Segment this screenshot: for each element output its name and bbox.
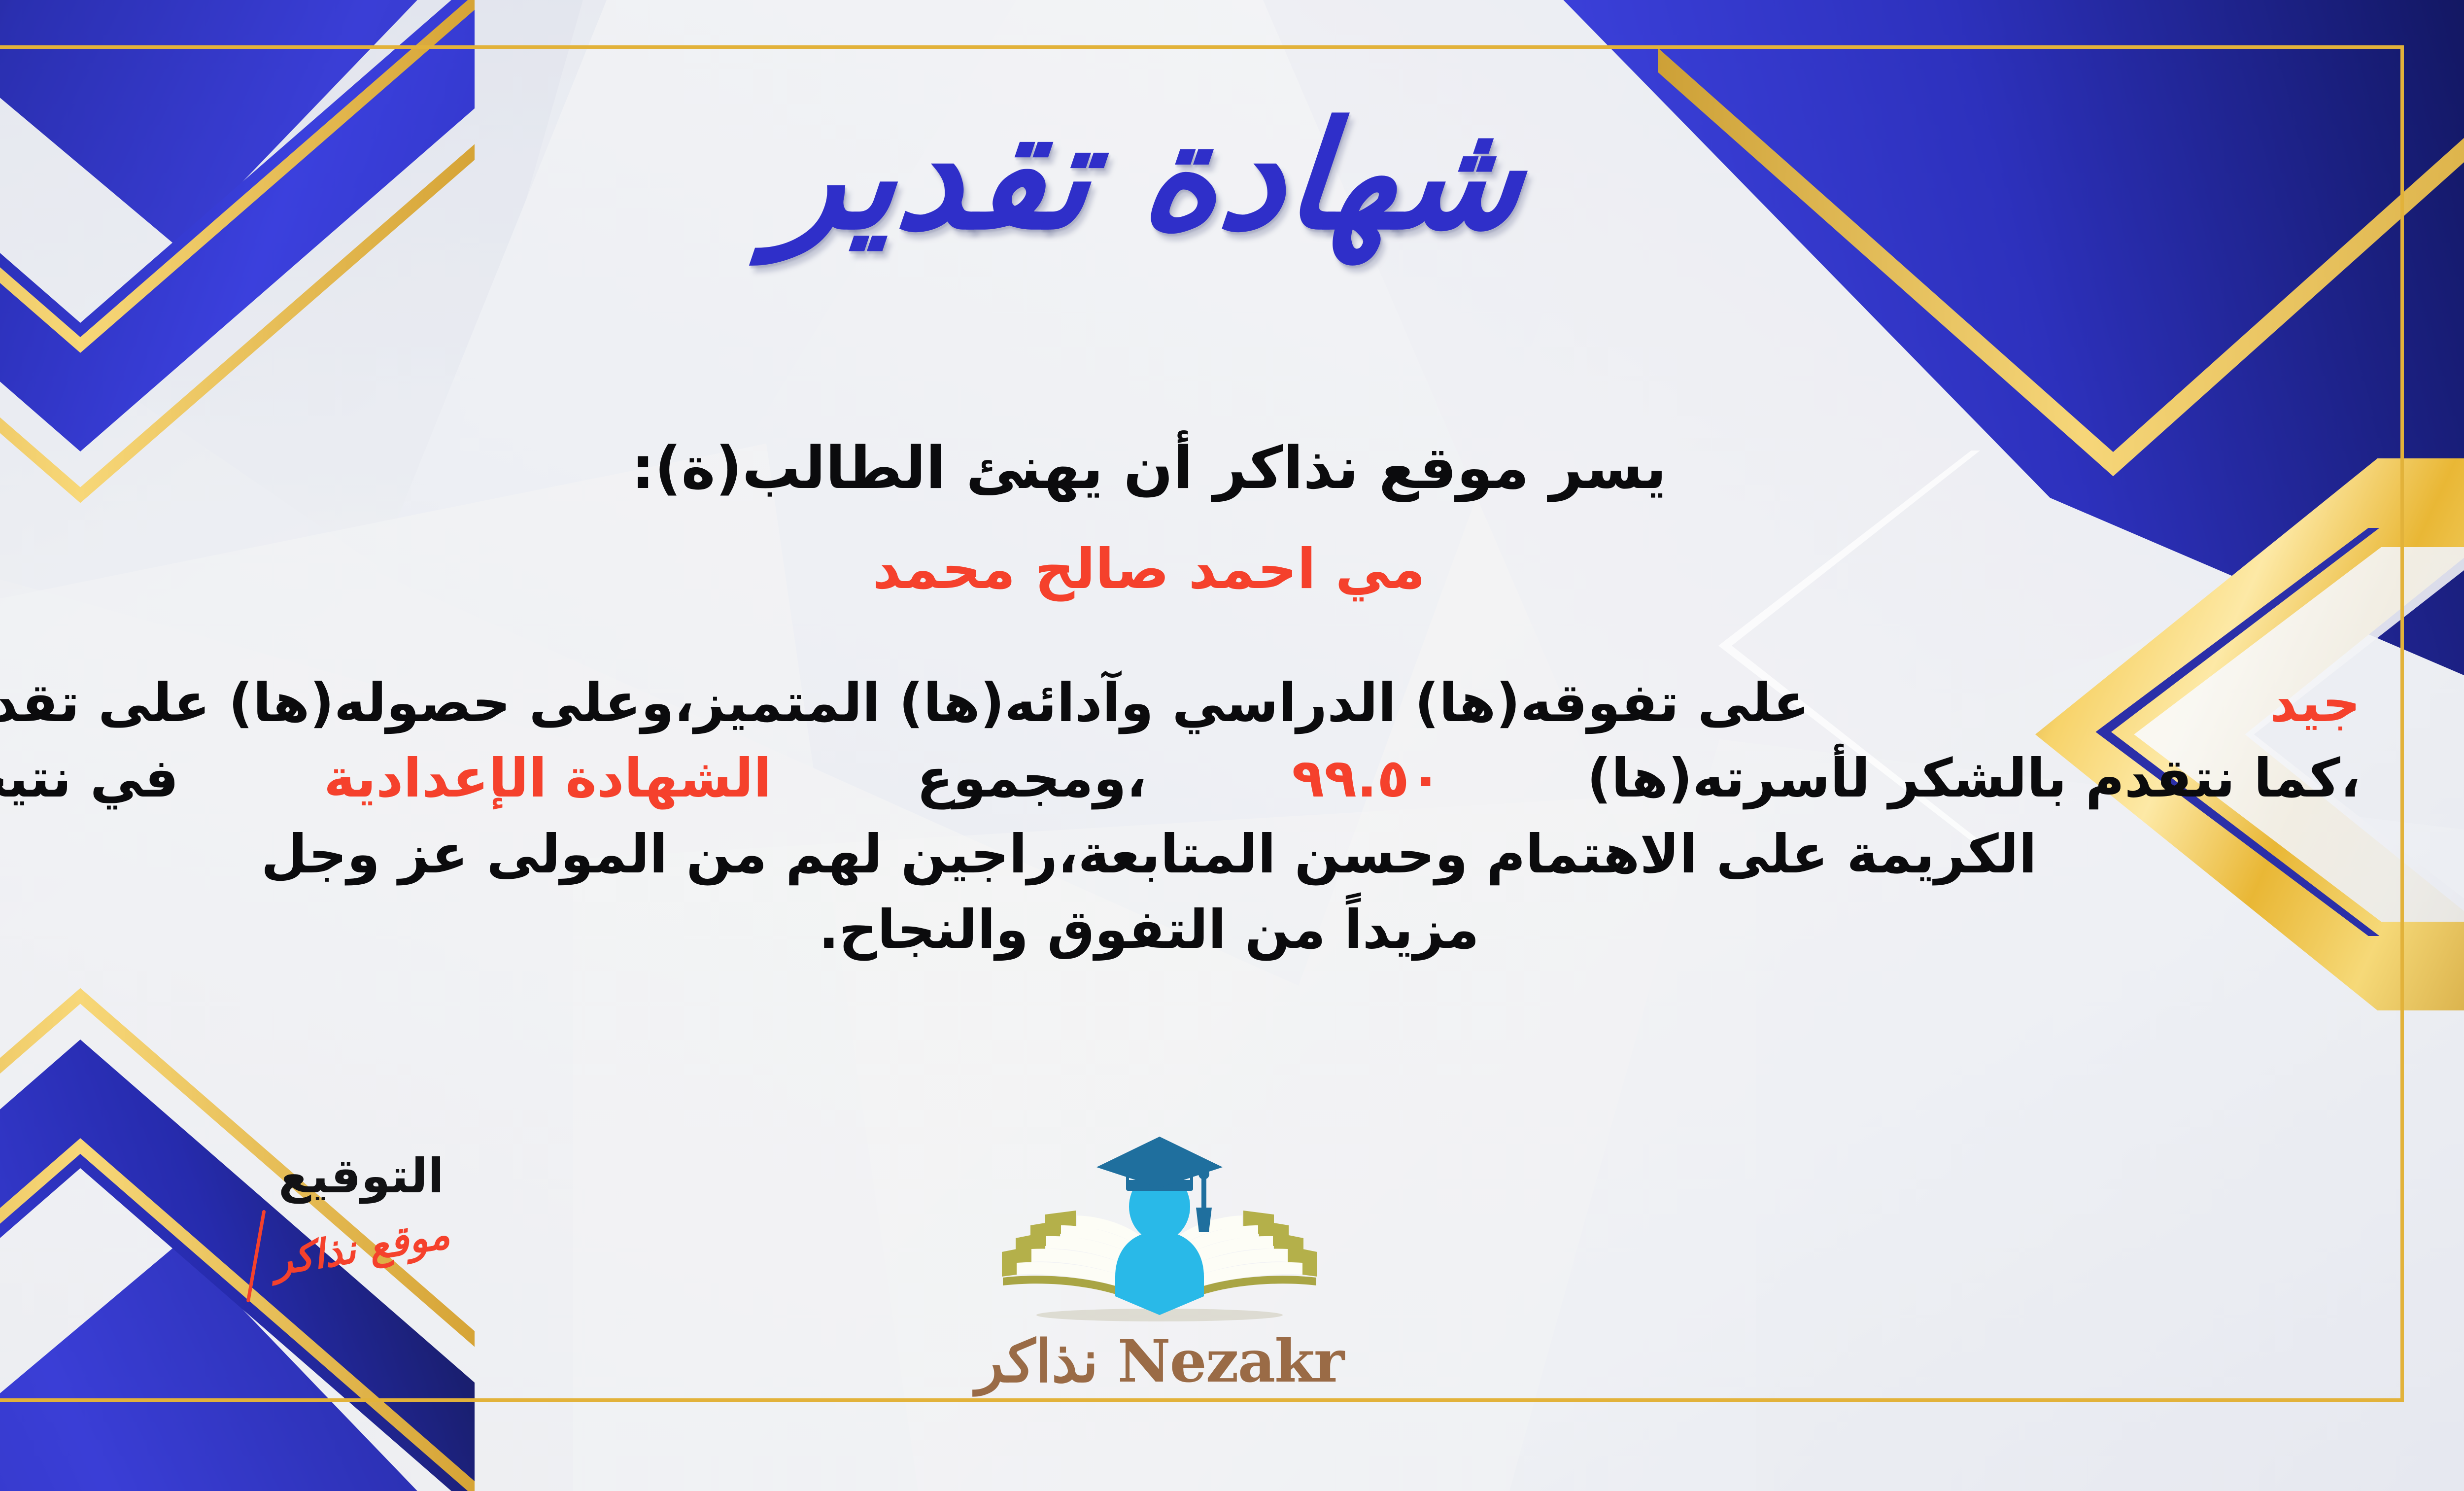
signature-block: التوقيع موقع نذاكر	[208, 1148, 514, 1271]
body-paragraph: جيد على تفوقه(ها) الدراسي وآدائه(ها) الم…	[0, 665, 2390, 968]
graduate-book-icon	[972, 1129, 1347, 1336]
total-score-value: ٩٩.٥٠	[1292, 741, 1442, 816]
body-line-2-suffix: ،كما نتقدم بالشكر لأسرته(ها)	[1587, 741, 2361, 816]
body-line-3: الكريمة على الاهتمام وحسن المتابعة،راجين…	[0, 817, 2390, 892]
certificate-title: شهادة تقدير	[0, 84, 2464, 269]
exam-name-value: الشهادة الإعدادية	[324, 741, 772, 816]
grade-value: جيد	[2270, 665, 2361, 741]
brand-logo: Nezakr نذاكر	[972, 1129, 1347, 1424]
student-name: مي احمد صالح محمد	[0, 537, 2464, 601]
signature-label: التوقيع	[208, 1148, 514, 1204]
body-line-2-mid: ،ومجموع	[917, 741, 1147, 816]
body-line-1: جيد على تفوقه(ها) الدراسي وآدائه(ها) الم…	[0, 665, 2390, 741]
certificate-page: شهادة تقدير يسر موقع نذاكر أن يهنئ الطال…	[0, 0, 2464, 1491]
body-line-2-prefix: في نتيجة	[0, 741, 179, 816]
certificate-content: شهادة تقدير يسر موقع نذاكر أن يهنئ الطال…	[0, 0, 2464, 1491]
body-line-4: مزيداً من التفوق والنجاح.	[0, 892, 2390, 968]
signature-mark: موقع نذاكر	[270, 1211, 453, 1284]
brand-name: Nezakr نذاكر	[972, 1327, 1347, 1395]
body-line-1-text: على تفوقه(ها) الدراسي وآدائه(ها) المتميز…	[0, 665, 1810, 741]
greeting-line: يسر موقع نذاكر أن يهنئ الطالب(ة):	[0, 434, 2464, 502]
body-line-2: ،كما نتقدم بالشكر لأسرته(ها) ٩٩.٥٠ ،ومجم…	[0, 741, 2390, 816]
